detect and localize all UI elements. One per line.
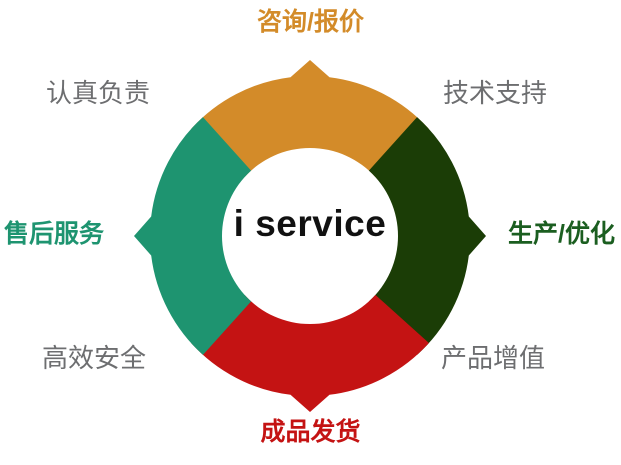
attribute-label-responsible: 认真负责 [46, 80, 150, 106]
center-title: i service [195, 205, 425, 242]
attribute-label-tech-support: 技术支持 [443, 80, 547, 106]
segment-label-production-optimization[interactable]: 生产/优化 [508, 222, 615, 247]
segment-label-after-sales-service[interactable]: 售后服务 [4, 222, 104, 247]
segment-label-finished-shipment[interactable]: 成品发货 [0, 420, 621, 445]
segment-label-consult-quote[interactable]: 咨询/报价 [0, 10, 621, 35]
attribute-label-efficient-safe: 高效安全 [42, 345, 146, 371]
attribute-label-value-added: 产品增值 [441, 345, 545, 371]
service-cycle-diagram: i service 咨询/报价 生产/优化 成品发货 售后服务 认真负责 技术支… [0, 0, 621, 465]
